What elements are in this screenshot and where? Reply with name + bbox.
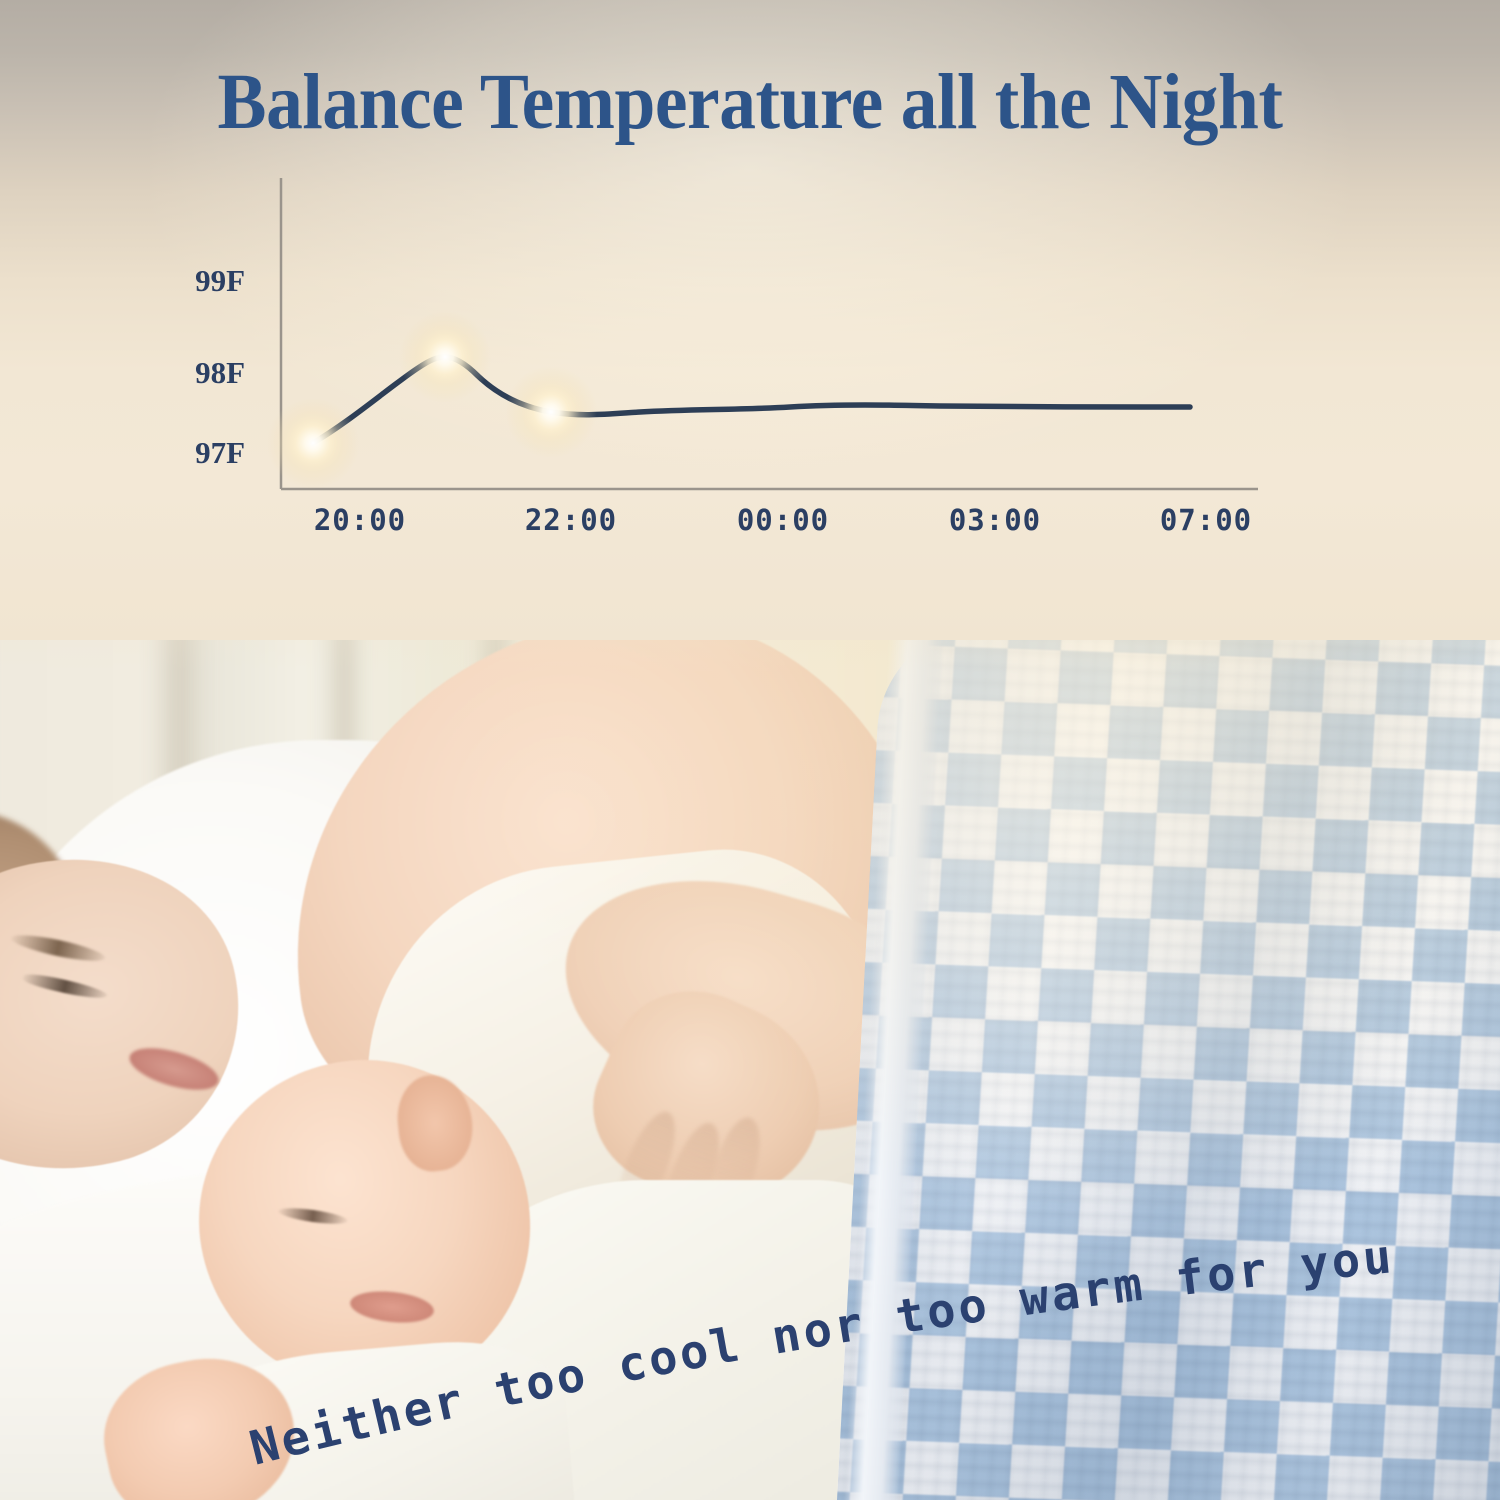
caption-textpath: Neither too cool nor too warm for your b… <box>0 1137 1397 1477</box>
caption-text: Neither too cool nor too warm for your b… <box>0 1137 1397 1477</box>
y-tick-label-97f: 97F <box>125 435 245 471</box>
data-point-glow-peak <box>399 311 491 403</box>
y-tick-label-99f: 99F <box>125 263 245 299</box>
x-tick-label-0300: 03:00 <box>905 503 1085 537</box>
caption-arc-svg: Neither too cool nor too warm for your b… <box>0 1180 1500 1500</box>
x-tick-label-2200: 22:00 <box>481 503 661 537</box>
x-tick-label-2000: 20:00 <box>270 503 450 537</box>
data-point-glow-2200 <box>505 366 597 458</box>
data-point-glow-2000 <box>267 397 359 489</box>
infographic-root: Balance Temperature all the Night <box>0 0 1500 1500</box>
x-tick-label-0000: 00:00 <box>693 503 873 537</box>
y-tick-label-98f: 98F <box>125 355 245 391</box>
x-tick-label-0700: 07:00 <box>1116 503 1296 537</box>
chart-svg <box>0 0 1500 640</box>
temperature-chart: 99F 98F 97F 20:00 22:00 00:00 03:00 07:0… <box>0 0 1500 640</box>
